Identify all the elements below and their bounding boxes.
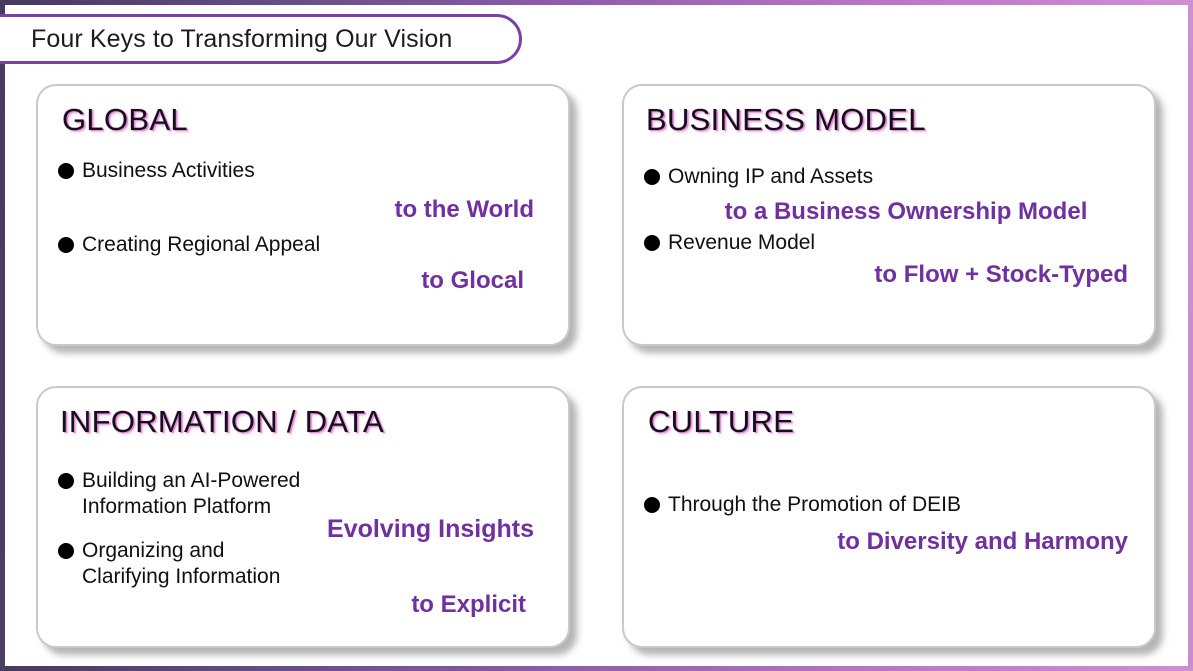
slide-frame-top-edge: [0, 0, 1193, 5]
card-global-bullet-1-label: Business Activities: [82, 158, 255, 184]
card-global-bullet-2: Creating Regional Appeal: [58, 232, 548, 258]
card-global-bullet-1: Business Activities: [58, 158, 548, 184]
card-business-model-bullet-1-label: Owning IP and Assets: [668, 164, 873, 190]
card-culture-bullet-1-label: Through the Promotion of DEIB: [668, 492, 961, 518]
card-information-data-title: INFORMATION / DATA: [60, 404, 548, 440]
card-culture-body: Through the Promotion of DEIB to Diversi…: [644, 492, 1134, 556]
bullet-circle-icon: [58, 237, 74, 253]
card-global-arrow-1: to the World: [58, 196, 548, 224]
bullet-circle-icon: [58, 473, 74, 489]
card-culture-arrow-1: to Diversity and Harmony: [644, 528, 1134, 556]
slide-title-tab: Four Keys to Transforming Our Vision: [0, 14, 522, 64]
card-information-data-arrow-2: to Explicit: [58, 591, 548, 619]
card-business-model-arrow-1: to a Business Ownership Model: [644, 198, 1134, 226]
page-title: Four Keys to Transforming Our Vision: [0, 25, 452, 54]
card-culture-bullet-1: Through the Promotion of DEIB: [644, 492, 1134, 518]
card-business-model-bullet-2: Revenue Model: [644, 230, 1134, 256]
card-information-data-bullet-2-label: Organizing and Clarifying Information: [82, 538, 280, 589]
card-global-title: GLOBAL: [62, 102, 548, 138]
bullet-circle-icon: [644, 235, 660, 251]
card-business-model-bullet-1: Owning IP and Assets: [644, 164, 1134, 190]
slide-canvas: Four Keys to Transforming Our Vision GLO…: [0, 0, 1193, 671]
bullet-circle-icon: [644, 497, 660, 513]
card-global-arrow-2: to Glocal: [58, 267, 548, 295]
card-information-data-bullet-1-label: Building an AI-Powered Information Platf…: [82, 468, 300, 519]
card-global-bullet-2-label: Creating Regional Appeal: [82, 232, 320, 258]
slide-frame-bottom-edge: [0, 666, 1193, 671]
card-information-data-body: Building an AI-Powered Information Platf…: [58, 468, 548, 619]
card-information-data[interactable]: INFORMATION / DATA Building an AI-Powere…: [36, 386, 570, 648]
slide-frame-left-edge: [0, 0, 5, 671]
card-business-model[interactable]: BUSINESS MODEL Owning IP and Assets to a…: [622, 84, 1156, 346]
bullet-circle-icon: [58, 163, 74, 179]
cards-grid: GLOBAL Business Activities to the World …: [36, 84, 1156, 648]
bullet-circle-icon: [58, 543, 74, 559]
card-global-body: Business Activities to the World Creatin…: [58, 158, 548, 295]
bullet-circle-icon: [644, 169, 660, 185]
card-information-data-bullet-1: Building an AI-Powered Information Platf…: [58, 468, 548, 519]
card-information-data-bullet-2: Organizing and Clarifying Information: [58, 538, 548, 589]
card-business-model-arrow-2: to Flow + Stock-Typed: [644, 261, 1134, 289]
card-business-model-bullet-2-label: Revenue Model: [668, 230, 815, 256]
slide-frame-right-edge: [1188, 0, 1193, 671]
card-culture-title: CULTURE: [648, 404, 1134, 440]
card-culture[interactable]: CULTURE Through the Promotion of DEIB to…: [622, 386, 1156, 648]
card-global[interactable]: GLOBAL Business Activities to the World …: [36, 84, 570, 346]
card-business-model-body: Owning IP and Assets to a Business Owner…: [644, 164, 1134, 289]
card-business-model-title: BUSINESS MODEL: [646, 102, 1134, 138]
